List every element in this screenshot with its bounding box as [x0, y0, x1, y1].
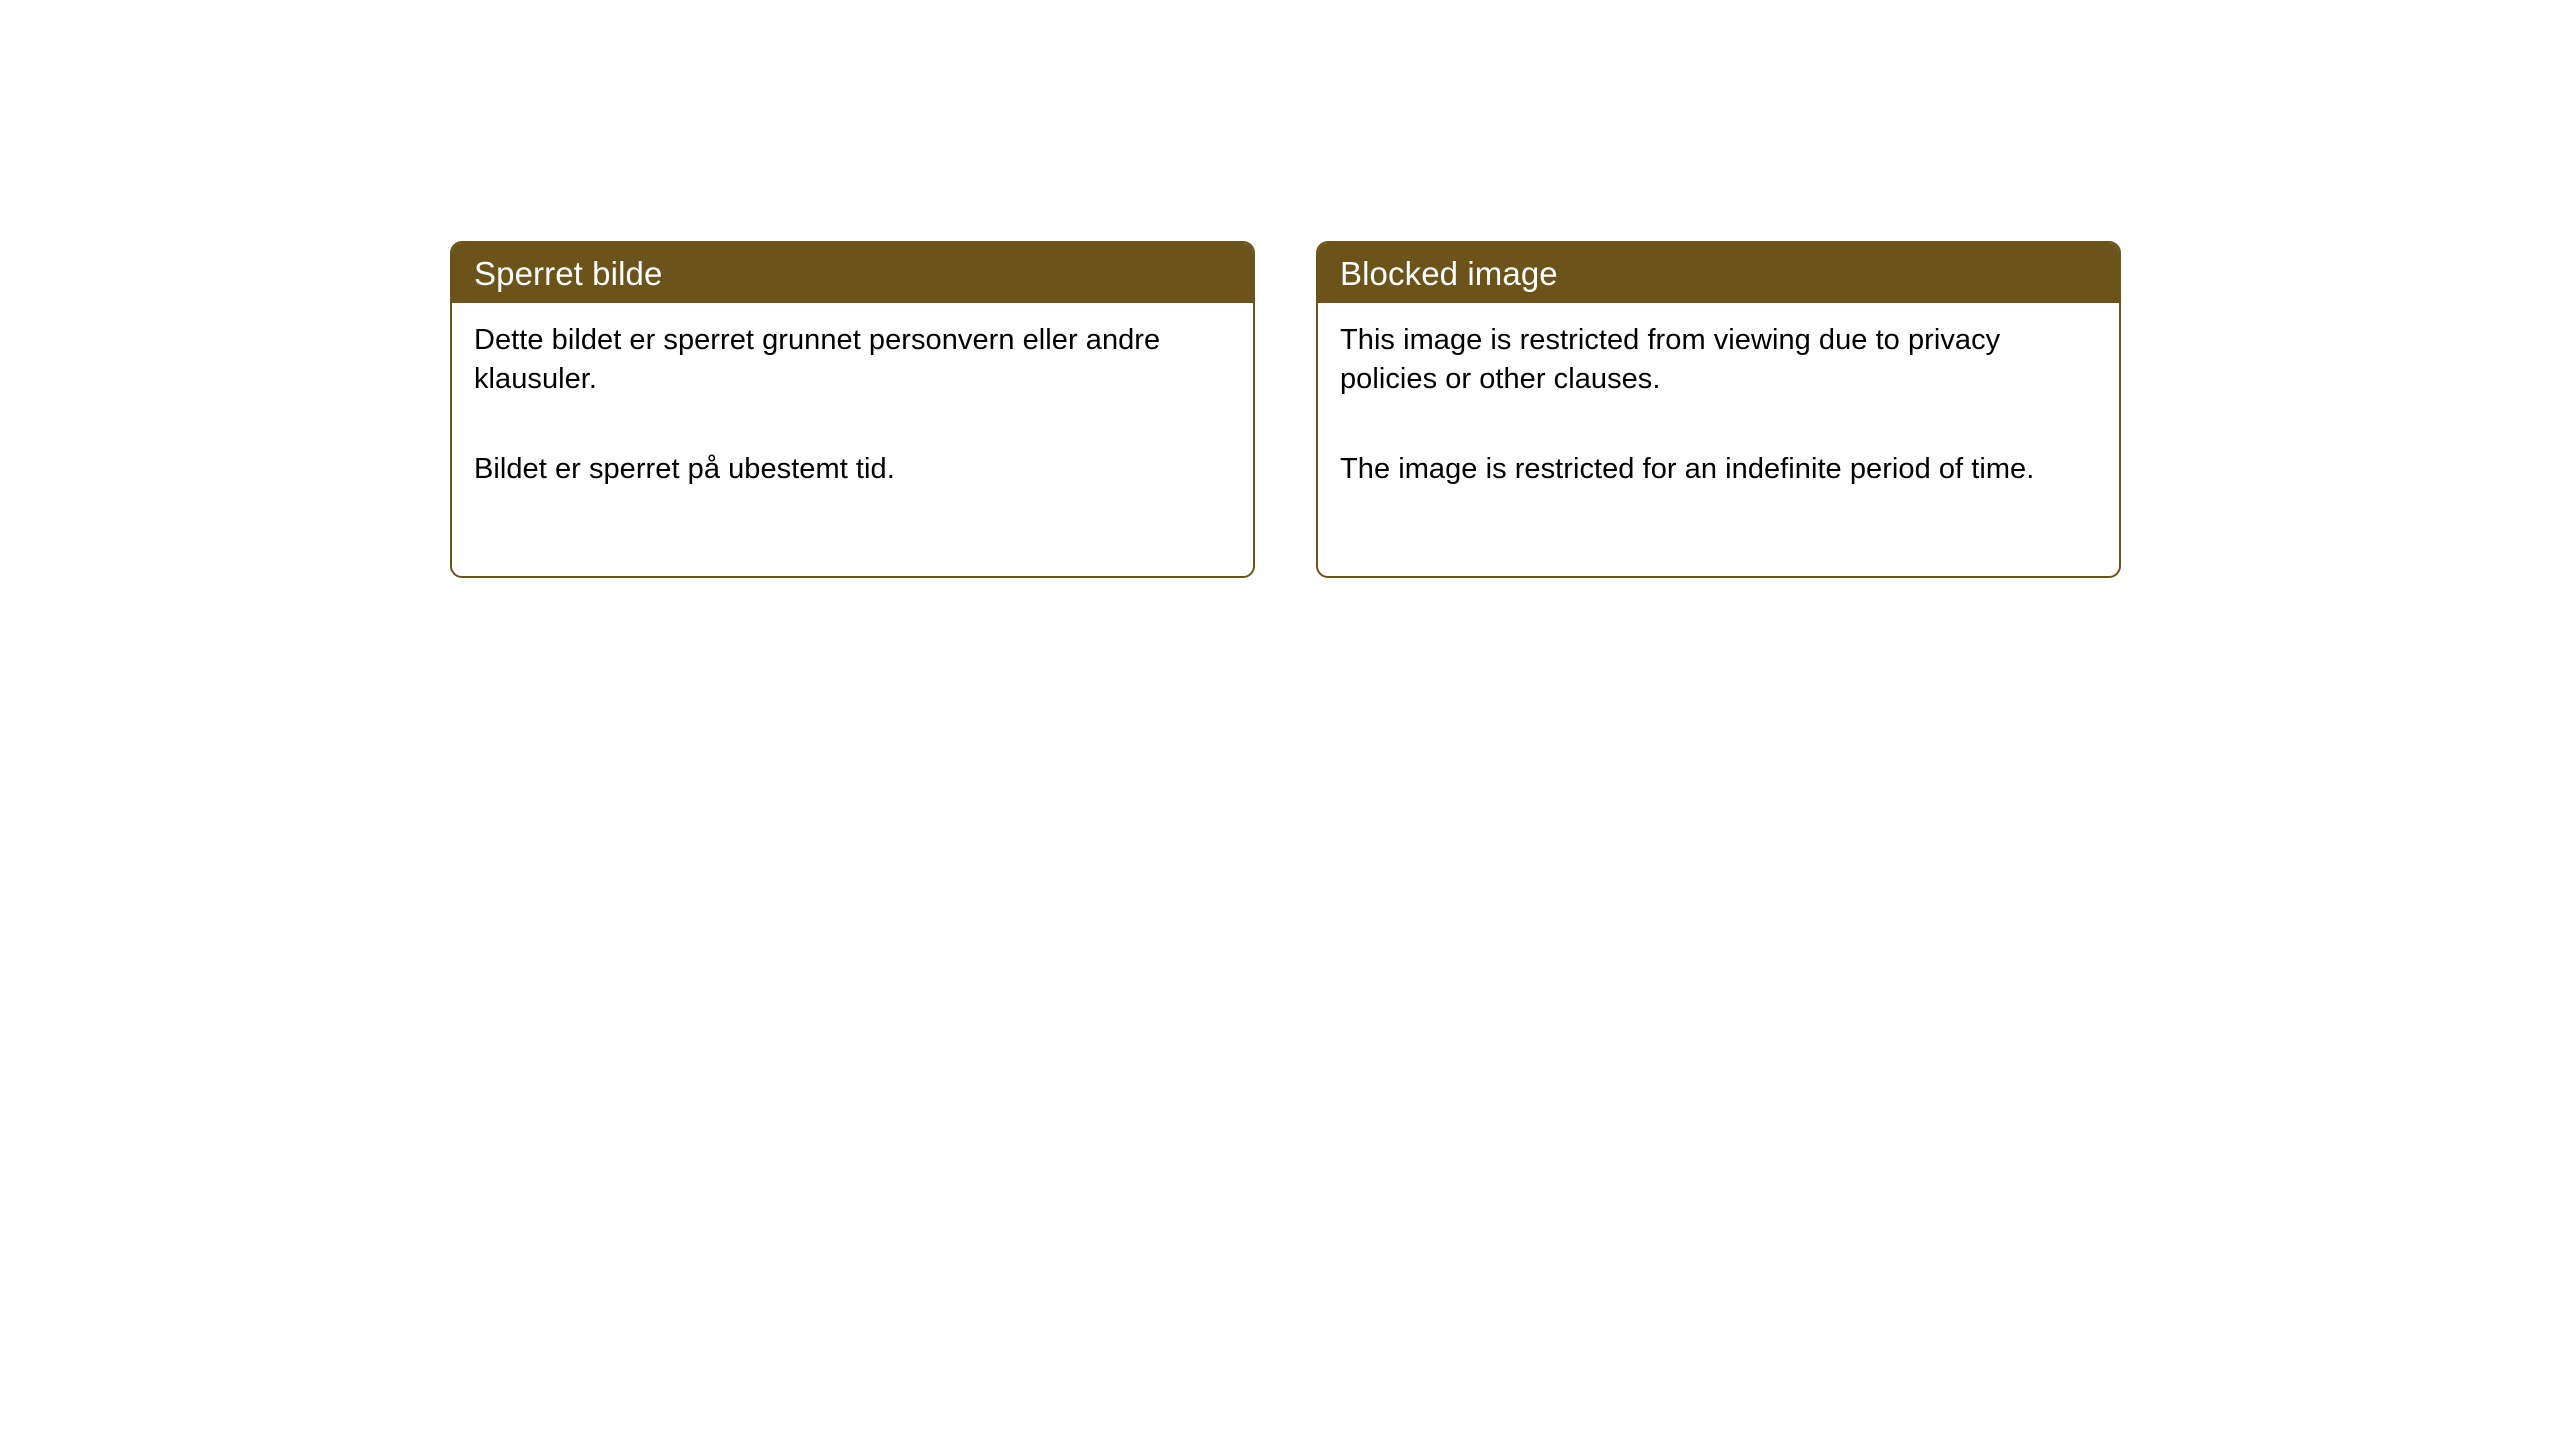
blocked-image-panel-norwegian: Sperret bilde Dette bildet er sperret gr… — [450, 241, 1255, 578]
blocked-image-panel-english: Blocked image This image is restricted f… — [1316, 241, 2121, 578]
panel-title-english: Blocked image — [1340, 257, 1558, 290]
panel-paragraph-english-1: This image is restricted from viewing du… — [1340, 321, 2095, 398]
panel-paragraph-norwegian-1: Dette bildet er sperret grunnet personve… — [474, 321, 1213, 398]
page-canvas: Sperret bilde Dette bildet er sperret gr… — [0, 0, 2560, 1440]
panel-title-norwegian: Sperret bilde — [474, 257, 662, 290]
panel-body-norwegian: Dette bildet er sperret grunnet personve… — [452, 303, 1253, 489]
panel-paragraph-english-2: The image is restricted for an indefinit… — [1340, 450, 2095, 489]
panel-paragraph-norwegian-2: Bildet er sperret på ubestemt tid. — [474, 450, 1213, 489]
panel-body-english: This image is restricted from viewing du… — [1318, 303, 2119, 489]
panel-header-english: Blocked image — [1318, 243, 2119, 303]
panel-header-norwegian: Sperret bilde — [452, 243, 1253, 303]
